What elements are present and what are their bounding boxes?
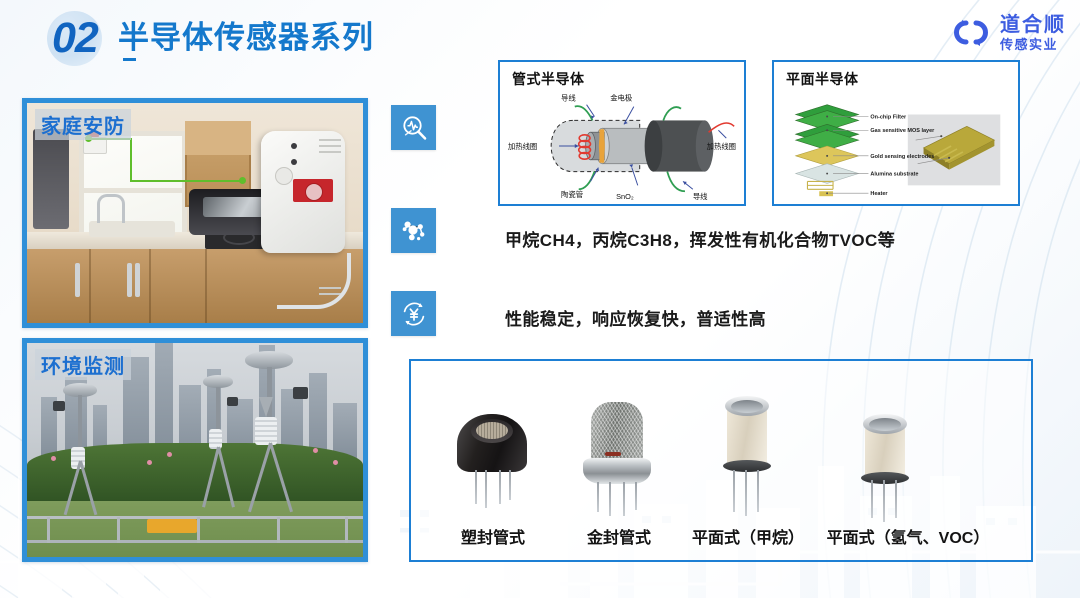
tube-semiconductor-diagram: 管式半导体 (498, 60, 746, 206)
label-ceramic-tube: 陶瓷管 (561, 190, 583, 199)
yen-refresh-glyph (399, 299, 429, 329)
plastic-sealed-tube-sensor[interactable] (457, 414, 527, 514)
interlocking-rings-icon (949, 16, 993, 50)
metal-sealed-tube-sensor[interactable] (583, 402, 653, 514)
brand-logo: 道合顺 传感实业 (949, 8, 1066, 58)
label-gold-electrode: 金电极 (610, 94, 633, 103)
logo-line-2: 传感实业 (1000, 38, 1066, 51)
product-lineup-panel: 塑封管式 金封管式 平面式（甲烷） (409, 359, 1033, 562)
label-sno2: SnO₂ (616, 192, 634, 201)
environment-monitoring-photo-tag: 环境监测 (35, 349, 131, 380)
features-text: 性能稳定，响应恢复快，普适性高 (505, 305, 766, 330)
molecule-glyph (399, 216, 429, 246)
planar-hydrogen-voc-sensor-label: 平面式（氢气、VOC） (811, 524, 1005, 548)
label-heater: Heater (870, 191, 888, 197)
metal-sealed-tube-sensor-label: 金封管式 (567, 524, 671, 548)
planar-diagram-drawing: On-chip Filter Gas sensitive MOS layer G… (774, 86, 1018, 206)
label-onchip-filter: On-chip Filter (870, 114, 907, 120)
section-number: 02 (52, 13, 98, 63)
environment-monitoring-photo[interactable]: 环境监测 (22, 338, 368, 562)
tube-diagram-drawing: 导线 金电极 加热线圈 加热线圈 陶瓷管 SnO₂ 导线 (500, 86, 744, 206)
logo-line-1: 道合顺 (1000, 15, 1066, 35)
label-gold-electrodes: Gold sensing electrodes (870, 154, 934, 160)
yen-refresh-icon[interactable] (391, 291, 436, 336)
title-underline-dash (123, 58, 136, 61)
label-alumina-substrate: Alumina substrate (870, 172, 918, 178)
molecule-icon[interactable] (391, 208, 436, 253)
label-heating-coil-left: 加热线圈 (508, 142, 537, 151)
home-security-photo-tag: 家庭安防 (35, 109, 131, 140)
planar-methane-sensor[interactable] (721, 396, 775, 514)
planar-semiconductor-diagram: 平面半导体 (772, 60, 1020, 206)
planar-hydrogen-voc-sensor[interactable] (859, 408, 913, 514)
slide-canvas: 02 半导体传感器系列 道合顺 传感实业 (0, 0, 1080, 598)
label-lead-wire-top: 导线 (561, 94, 576, 103)
magnifier-pulse-glyph (399, 113, 429, 143)
gases-text: 甲烷CH4，丙烷C3H8，挥发性有机化合物TVOC等 (505, 226, 895, 251)
label-heating-coil-right: 加热线圈 (707, 142, 736, 151)
home-security-photo[interactable]: 家庭安防 (22, 98, 368, 328)
magnifier-pulse-icon[interactable] (391, 105, 436, 150)
label-mos-layer: Gas sensitive MOS layer (870, 128, 935, 134)
planar-methane-sensor-label: 平面式（甲烷） (683, 524, 813, 548)
plastic-sealed-tube-sensor-label: 塑封管式 (441, 524, 545, 548)
page-title: 半导体传感器系列 (118, 15, 374, 61)
label-lead-wire-bottom: 导线 (693, 192, 708, 201)
